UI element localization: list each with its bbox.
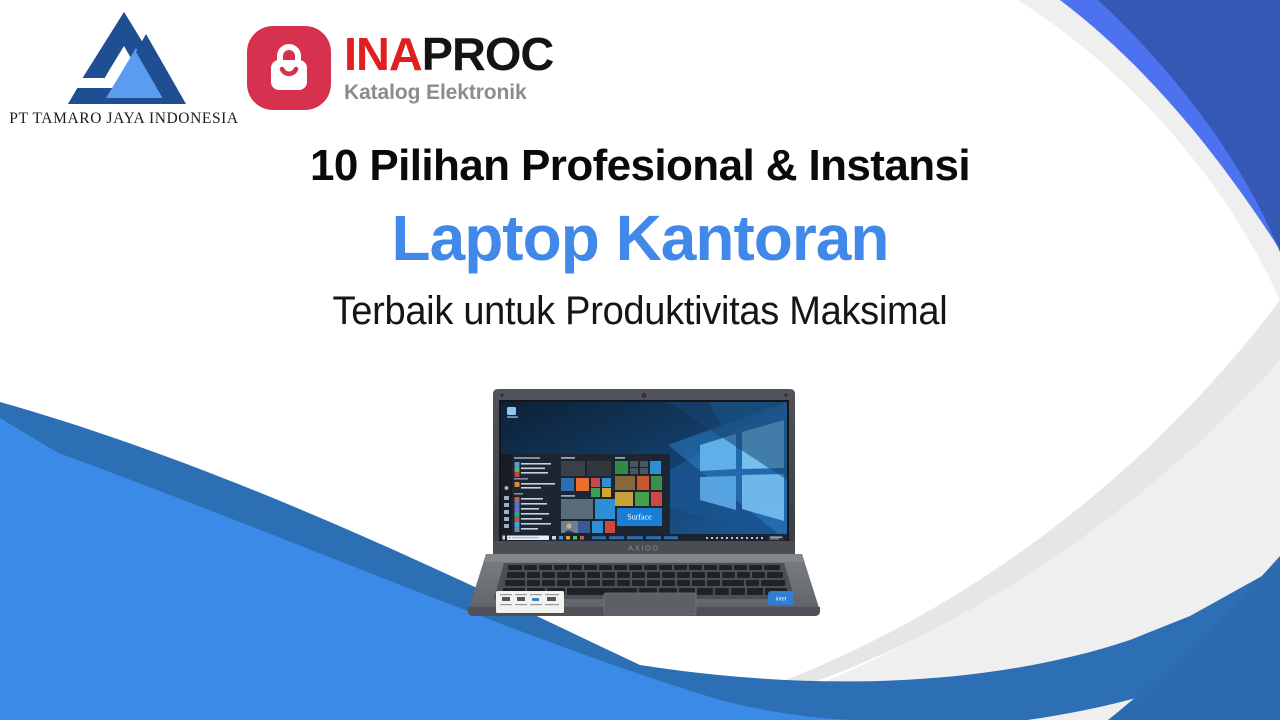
headline-main-title: Laptop Kantoran	[0, 204, 1280, 273]
logo-row: PT TAMARO JAYA INDONESIA INAPROC Katalog…	[0, 0, 1280, 140]
inaproc-tagline: Katalog Elektronik	[344, 82, 549, 103]
laptop-product-image: Surface	[468, 385, 820, 620]
laptop-screen: Surface	[501, 402, 787, 541]
tamaro-triangle-logo-icon	[62, 8, 186, 108]
inaproc-title-ina: INA	[344, 28, 422, 80]
start-menu: Surface	[501, 454, 670, 534]
headline-subtitle: Terbaik untuk Produktivitas Maksimal	[32, 289, 1248, 333]
headline-kicker: 10 Pilihan Profesional & Instansi	[0, 143, 1280, 190]
intel-sticker: intel	[768, 591, 794, 605]
laptop-hinge: AXIOO	[493, 541, 795, 554]
svg-text:intel: intel	[776, 597, 786, 603]
inaproc-title-proc: PROC	[422, 28, 553, 80]
laptop-brand-label: AXIOO	[628, 544, 660, 553]
trackpad[interactable]	[604, 593, 696, 615]
inaproc-badge	[247, 26, 331, 110]
tamaro-company-name: PT TAMARO JAYA INDONESIA	[8, 110, 240, 128]
tamaro-logo-block: PT TAMARO JAYA INDONESIA	[8, 8, 240, 128]
poster-canvas: PT TAMARO JAYA INDONESIA INAPROC Katalog…	[0, 0, 1280, 720]
inaproc-logo-block: INAPROC Katalog Elektronik	[247, 26, 549, 110]
inaproc-wordmark: INAPROC Katalog Elektronik	[344, 33, 549, 103]
shopping-bag-icon	[265, 42, 313, 94]
headline-block: 10 Pilihan Profesional & Instansi Laptop…	[0, 143, 1280, 333]
laptop-base: intel	[468, 554, 820, 616]
taskbar	[501, 534, 787, 541]
inaproc-title: INAPROC	[344, 33, 553, 77]
svg-text:Surface: Surface	[627, 513, 652, 522]
spec-sticker	[496, 591, 564, 613]
